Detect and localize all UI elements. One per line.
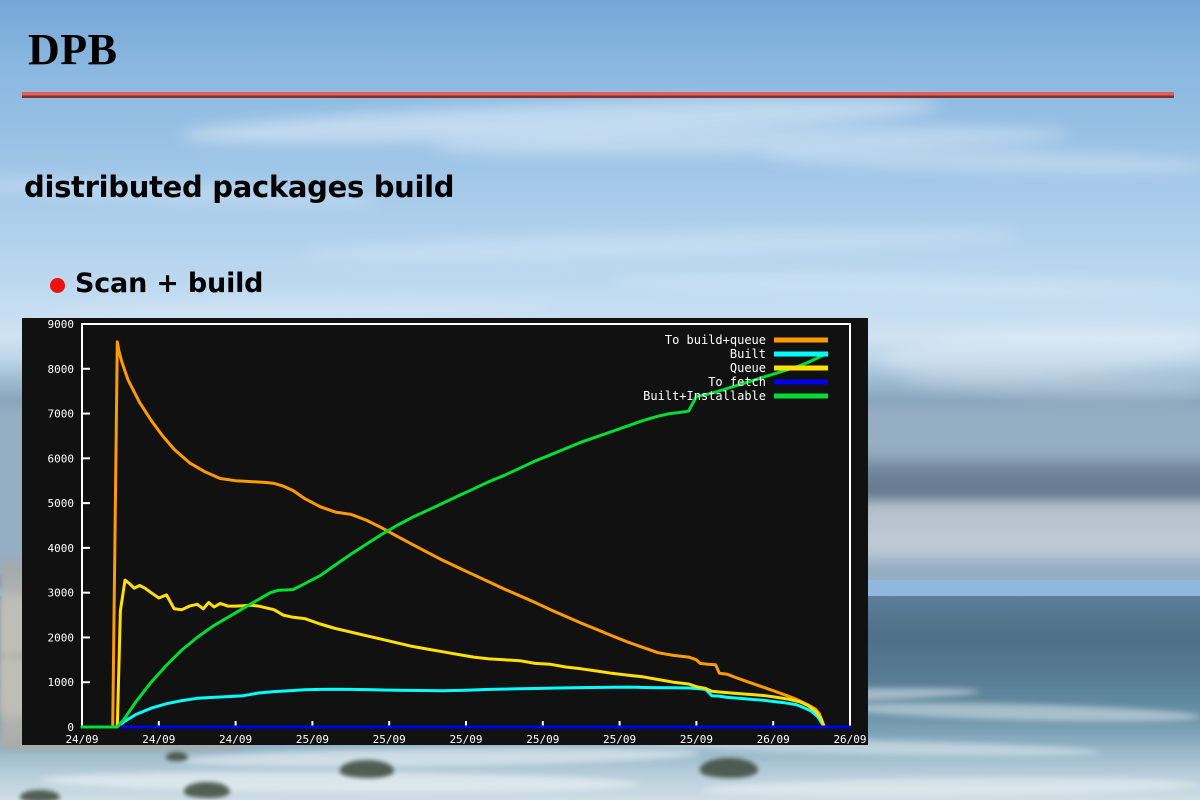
- y-tick-label: 7000: [48, 408, 75, 421]
- surf-rock: [166, 752, 188, 761]
- y-tick-label: 5000: [48, 497, 75, 510]
- x-tick-label: 25/09: [680, 733, 713, 745]
- legend-label: Built+Installable: [643, 389, 766, 403]
- line-chart: 0100020003000400050006000700080009000 24…: [22, 318, 868, 745]
- bullet-item: Scan + build: [50, 268, 263, 299]
- legend-label: To fetch: [708, 375, 766, 389]
- y-tick-label: 6000: [48, 452, 75, 465]
- bullet-dot-icon: [50, 278, 65, 293]
- surf-rock: [700, 758, 758, 778]
- y-tick-label: 3000: [48, 587, 75, 600]
- legend-label: To build+queue: [665, 333, 766, 347]
- title-divider: [22, 92, 1174, 98]
- y-tick-label: 1000: [48, 676, 75, 689]
- surf-rock: [20, 790, 60, 800]
- x-tick-label: 25/09: [526, 733, 559, 745]
- y-tick-label: 4000: [48, 542, 75, 555]
- cloud-band-lower: [860, 500, 1200, 560]
- chart-panel: 0100020003000400050006000700080009000 24…: [22, 318, 868, 745]
- slide-title: DPB: [28, 28, 118, 72]
- bullet-label: Scan + build: [75, 268, 263, 299]
- x-tick-label: 24/09: [219, 733, 252, 745]
- x-tick-label: 24/09: [142, 733, 175, 745]
- slide-root: DPB distributed packages build Scan + bu…: [0, 0, 1200, 800]
- x-tick-label: 24/09: [65, 733, 98, 745]
- y-tick-label: 9000: [48, 318, 75, 331]
- x-tick-label: 25/09: [449, 733, 482, 745]
- slide-subtitle: distributed packages build: [24, 170, 454, 204]
- legend-label: Queue: [730, 361, 766, 375]
- x-tick-label: 25/09: [373, 733, 406, 745]
- surf-rock: [340, 760, 394, 778]
- x-tick-label: 25/09: [603, 733, 636, 745]
- x-tick-label: 26/09: [757, 733, 790, 745]
- y-tick-label: 2000: [48, 631, 75, 644]
- legend-label: Built: [730, 347, 766, 361]
- surf-rock: [184, 782, 230, 798]
- x-tick-label: 26/09: [833, 733, 866, 745]
- x-tick-label: 25/09: [296, 733, 329, 745]
- y-tick-label: 8000: [48, 363, 75, 376]
